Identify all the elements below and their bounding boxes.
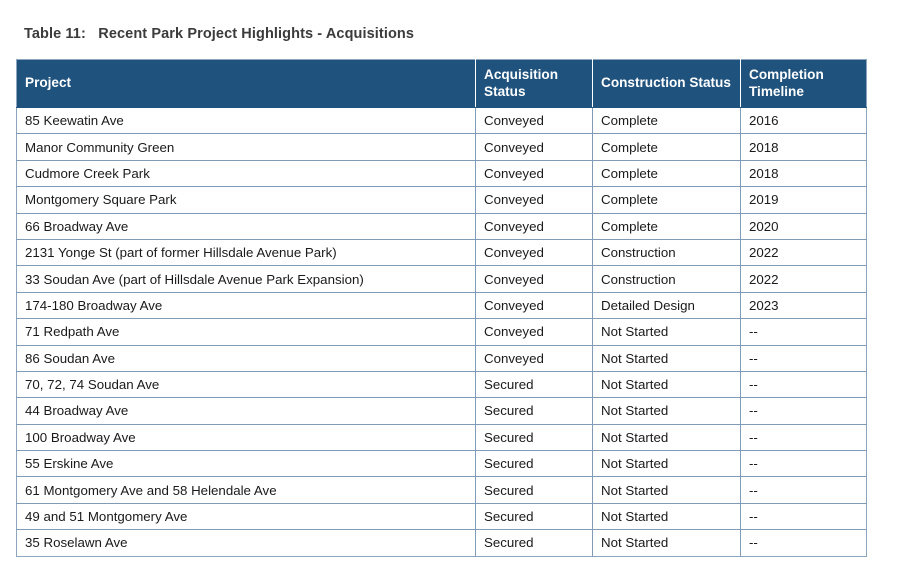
cell-construction_status: Complete xyxy=(593,160,741,186)
cell-project: 49 and 51 Montgomery Ave xyxy=(17,503,476,529)
cell-project: 174-180 Broadway Ave xyxy=(17,292,476,318)
table-row: 55 Erskine AveSecuredNot Started-- xyxy=(17,451,867,477)
cell-completion_timeline: 2018 xyxy=(741,134,867,160)
table-row: 33 Soudan Ave (part of Hillsdale Avenue … xyxy=(17,266,867,292)
cell-acquisition_status: Conveyed xyxy=(476,292,593,318)
cell-project: 55 Erskine Ave xyxy=(17,451,476,477)
cell-construction_status: Not Started xyxy=(593,503,741,529)
column-header-construction-status: Construction Status xyxy=(593,60,741,108)
cell-project: 35 Roselawn Ave xyxy=(17,530,476,556)
cell-completion_timeline: 2018 xyxy=(741,160,867,186)
cell-construction_status: Not Started xyxy=(593,530,741,556)
table-row: 35 Roselawn AveSecuredNot Started-- xyxy=(17,530,867,556)
cell-acquisition_status: Conveyed xyxy=(476,266,593,292)
column-header-project: Project xyxy=(17,60,476,108)
table-row: 44 Broadway AveSecuredNot Started-- xyxy=(17,398,867,424)
cell-project: 86 Soudan Ave xyxy=(17,345,476,371)
cell-acquisition_status: Conveyed xyxy=(476,213,593,239)
cell-completion_timeline: -- xyxy=(741,451,867,477)
cell-acquisition_status: Secured xyxy=(476,371,593,397)
cell-acquisition_status: Conveyed xyxy=(476,108,593,134)
cell-construction_status: Construction xyxy=(593,239,741,265)
table-row: 70, 72, 74 Soudan AveSecuredNot Started-… xyxy=(17,371,867,397)
cell-construction_status: Not Started xyxy=(593,371,741,397)
table-row: 71 Redpath AveConveyedNot Started-- xyxy=(17,319,867,345)
cell-construction_status: Complete xyxy=(593,134,741,160)
table-row: 2131 Yonge St (part of former Hillsdale … xyxy=(17,239,867,265)
table-body: 85 Keewatin AveConveyedComplete2016Manor… xyxy=(17,108,867,557)
cell-construction_status: Complete xyxy=(593,213,741,239)
cell-acquisition_status: Secured xyxy=(476,477,593,503)
cell-completion_timeline: 2023 xyxy=(741,292,867,318)
cell-project: 66 Broadway Ave xyxy=(17,213,476,239)
cell-completion_timeline: -- xyxy=(741,345,867,371)
cell-construction_status: Complete xyxy=(593,108,741,134)
table-row: 61 Montgomery Ave and 58 Helendale AveSe… xyxy=(17,477,867,503)
cell-project: 61 Montgomery Ave and 58 Helendale Ave xyxy=(17,477,476,503)
cell-completion_timeline: -- xyxy=(741,371,867,397)
cell-completion_timeline: 2022 xyxy=(741,239,867,265)
cell-acquisition_status: Conveyed xyxy=(476,345,593,371)
table-header: Project Acquisition Status Construction … xyxy=(17,60,867,108)
cell-completion_timeline: 2019 xyxy=(741,187,867,213)
cell-completion_timeline: -- xyxy=(741,398,867,424)
cell-completion_timeline: 2020 xyxy=(741,213,867,239)
column-header-completion-timeline: Completion Timeline xyxy=(741,60,867,108)
cell-completion_timeline: -- xyxy=(741,424,867,450)
cell-construction_status: Detailed Design xyxy=(593,292,741,318)
cell-acquisition_status: Conveyed xyxy=(476,319,593,345)
cell-completion_timeline: 2016 xyxy=(741,108,867,134)
cell-acquisition_status: Conveyed xyxy=(476,239,593,265)
column-header-acquisition-status: Acquisition Status xyxy=(476,60,593,108)
cell-acquisition_status: Secured xyxy=(476,424,593,450)
cell-project: 2131 Yonge St (part of former Hillsdale … xyxy=(17,239,476,265)
cell-construction_status: Not Started xyxy=(593,319,741,345)
cell-completion_timeline: -- xyxy=(741,503,867,529)
cell-construction_status: Not Started xyxy=(593,451,741,477)
cell-completion_timeline: 2022 xyxy=(741,266,867,292)
table-row: Montgomery Square ParkConveyedComplete20… xyxy=(17,187,867,213)
cell-acquisition_status: Conveyed xyxy=(476,187,593,213)
cell-construction_status: Complete xyxy=(593,187,741,213)
table-row: 174-180 Broadway AveConveyedDetailed Des… xyxy=(17,292,867,318)
cell-project: 44 Broadway Ave xyxy=(17,398,476,424)
cell-acquisition_status: Conveyed xyxy=(476,134,593,160)
cell-project: 100 Broadway Ave xyxy=(17,424,476,450)
cell-acquisition_status: Conveyed xyxy=(476,160,593,186)
table-row: 86 Soudan AveConveyedNot Started-- xyxy=(17,345,867,371)
table-header-row: Project Acquisition Status Construction … xyxy=(17,60,867,108)
cell-completion_timeline: -- xyxy=(741,530,867,556)
cell-acquisition_status: Secured xyxy=(476,451,593,477)
table-row: 49 and 51 Montgomery AveSecuredNot Start… xyxy=(17,503,867,529)
table-row: 85 Keewatin AveConveyedComplete2016 xyxy=(17,108,867,134)
cell-project: Manor Community Green xyxy=(17,134,476,160)
table-row: Manor Community GreenConveyedComplete201… xyxy=(17,134,867,160)
table-row: 66 Broadway AveConveyedComplete2020 xyxy=(17,213,867,239)
cell-completion_timeline: -- xyxy=(741,319,867,345)
cell-project: 85 Keewatin Ave xyxy=(17,108,476,134)
cell-project: Cudmore Creek Park xyxy=(17,160,476,186)
cell-project: 70, 72, 74 Soudan Ave xyxy=(17,371,476,397)
document-page: Table 11: Recent Park Project Highlights… xyxy=(0,0,900,567)
cell-construction_status: Not Started xyxy=(593,398,741,424)
cell-project: 71 Redpath Ave xyxy=(17,319,476,345)
cell-completion_timeline: -- xyxy=(741,477,867,503)
cell-project: 33 Soudan Ave (part of Hillsdale Avenue … xyxy=(17,266,476,292)
cell-acquisition_status: Secured xyxy=(476,503,593,529)
cell-construction_status: Not Started xyxy=(593,345,741,371)
table-row: 100 Broadway AveSecuredNot Started-- xyxy=(17,424,867,450)
table-row: Cudmore Creek ParkConveyedComplete2018 xyxy=(17,160,867,186)
cell-construction_status: Not Started xyxy=(593,477,741,503)
table-caption: Table 11: Recent Park Project Highlights… xyxy=(24,26,414,42)
cell-construction_status: Not Started xyxy=(593,424,741,450)
cell-project: Montgomery Square Park xyxy=(17,187,476,213)
cell-construction_status: Construction xyxy=(593,266,741,292)
cell-acquisition_status: Secured xyxy=(476,398,593,424)
cell-acquisition_status: Secured xyxy=(476,530,593,556)
recent-park-project-highlights-table: Project Acquisition Status Construction … xyxy=(16,59,867,557)
